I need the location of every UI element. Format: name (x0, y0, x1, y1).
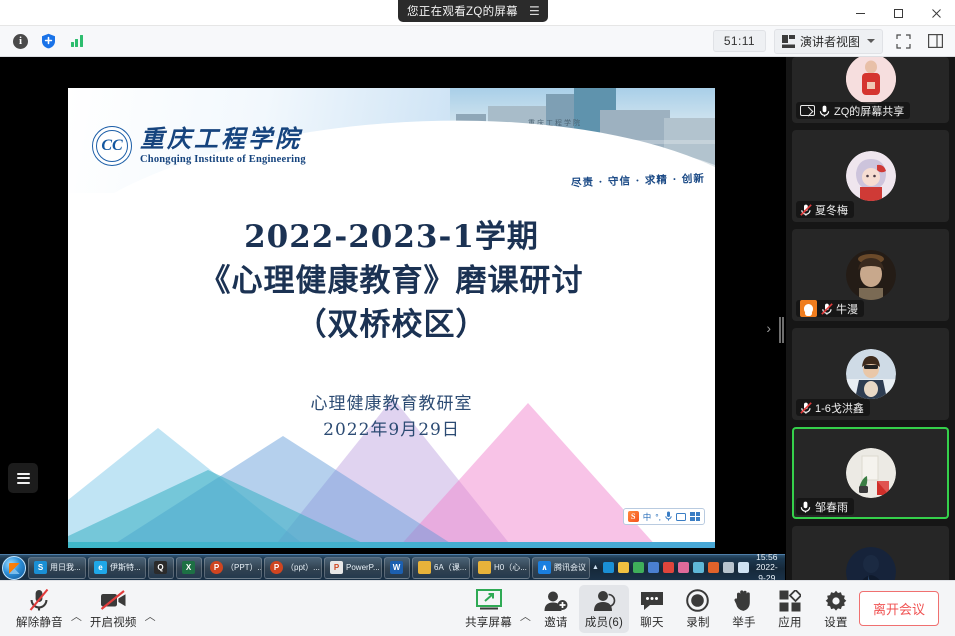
members-button[interactable]: 成员(6) (579, 585, 629, 633)
mic-on-icon (800, 501, 811, 513)
university-name-en: Chongqing Institute of Engineering (140, 154, 306, 165)
share-screen-label: 共享屏幕 (465, 614, 512, 630)
slide-title-line-1: 2022-2023-1学期 (68, 215, 715, 259)
taskbar-item[interactable]: P（ppt）... (264, 557, 322, 579)
mic-on-icon (819, 105, 830, 117)
invite-button[interactable]: 邀请 (533, 585, 579, 633)
slide-banner: 重庆工程学院 CC 重庆工程学院 Chongqing Institute of … (68, 88, 715, 193)
avatar (846, 349, 896, 399)
participant-name: 1-6戈洪鑫 (815, 400, 864, 416)
close-button[interactable] (917, 0, 955, 26)
shared-screen-stage: 重庆工程学院 CC 重庆工程学院 Chongqing Institute of … (0, 57, 785, 580)
participant-name: 牛漫 (836, 301, 858, 317)
slide-body: 2022-2023-1学期 《心理健康教育》磨课研讨 （双桥校区） 心理健康教育… (68, 193, 715, 548)
members-label: 成员(6) (585, 614, 623, 630)
participant-name: ZQ的屏幕共享 (834, 103, 904, 119)
mic-muted-icon (28, 588, 50, 612)
slide-subtitle: 心理健康教育教研室 2022年9月29日 (68, 391, 715, 444)
participant-tile[interactable]: 牛漫 (792, 229, 949, 321)
volume-icon[interactable] (738, 562, 749, 573)
window-buttons (841, 0, 955, 26)
speaker-view-icon (782, 35, 795, 48)
tray-icon[interactable] (648, 562, 659, 573)
taskbar-item[interactable]: PPowerP... (324, 557, 382, 579)
panel-drag-handle[interactable] (779, 315, 784, 345)
taskbar-item[interactable]: e伊斯特... (88, 557, 146, 579)
participant-name-tag: 夏冬梅 (796, 201, 854, 218)
unmute-label: 解除静音 (16, 614, 63, 630)
chat-icon (640, 588, 664, 612)
tray-icon[interactable] (723, 562, 734, 573)
university-seal-icon: CC (92, 126, 132, 166)
slide-subtitle-line-2: 2022年9月29日 (68, 417, 715, 443)
screen-share-icon (800, 105, 815, 116)
collapse-panel-chevron-icon[interactable]: › (766, 320, 771, 336)
system-tray: ▲ 15:56 2022-9-29 (592, 552, 785, 580)
record-icon (686, 588, 709, 612)
ime-toolbox-icon[interactable] (690, 512, 700, 521)
windows-taskbar: S用日我... e伊斯特... Q X P（PPT）... P（ppt）... … (0, 554, 785, 580)
taskbar-item[interactable]: X (176, 557, 202, 579)
tray-expand-icon[interactable]: ▲ (592, 564, 599, 571)
banner-menu-icon[interactable]: ☰ (527, 4, 542, 18)
slide-subtitle-line-1: 心理健康教育教研室 (68, 391, 715, 417)
voice-input-icon[interactable] (665, 510, 672, 524)
slide-title-line-2: 《心理健康教育》磨课研讨 (68, 259, 715, 303)
fullscreen-icon[interactable] (891, 30, 915, 52)
clock-time: 15:56 (756, 552, 778, 563)
participant-name: 夏冬梅 (815, 202, 848, 218)
share-options-chevron-icon[interactable]: ︿ (518, 608, 533, 624)
camera-off-icon (100, 588, 127, 612)
tray-icon[interactable] (603, 562, 614, 573)
network-signal-icon[interactable] (66, 31, 87, 52)
tray-icon[interactable] (618, 562, 629, 573)
participant-name: 邹春雨 (815, 499, 848, 515)
taskbar-clock[interactable]: 15:56 2022-9-29 (753, 552, 782, 580)
title-bar: 您正在观看ZQ的屏幕 ☰ (0, 0, 955, 26)
share-screen-button[interactable]: 共享屏幕 (459, 585, 518, 633)
raise-hand-button[interactable]: 举手 (721, 585, 767, 633)
start-video-button[interactable]: 开启视频 (84, 585, 143, 633)
presentation-slide: 重庆工程学院 CC 重庆工程学院 Chongqing Institute of … (68, 88, 715, 548)
mic-muted-icon (800, 402, 811, 414)
avatar (846, 547, 896, 580)
participant-name-tag: 邹春雨 (796, 498, 854, 515)
mic-muted-icon (821, 303, 832, 315)
sogou-logo-icon: S (628, 511, 639, 522)
mic-muted-icon (800, 204, 811, 216)
slide-title-line-3: （双桥校区） (68, 303, 715, 347)
ime-punctuation-icon[interactable]: °, (655, 512, 661, 522)
windows-start-button[interactable] (2, 556, 26, 580)
taskbar-item[interactable]: W (384, 557, 410, 579)
side-by-side-layout-icon[interactable] (923, 30, 947, 52)
apps-button[interactable]: 应用 (767, 585, 813, 633)
taskbar-item[interactable]: P（PPT）... (204, 557, 262, 579)
university-logo-row: CC 重庆工程学院 Chongqing Institute of Enginee… (92, 126, 306, 166)
start-video-label: 开启视频 (90, 614, 137, 630)
unmute-button[interactable]: 解除静音 (10, 585, 69, 633)
avatar (846, 448, 896, 498)
secondary-toolbar: i 51:11 (0, 26, 955, 57)
participant-tile-active[interactable]: 邹春雨 (792, 427, 949, 519)
maximize-button[interactable] (879, 0, 917, 26)
tray-icon[interactable] (708, 562, 719, 573)
tray-icon[interactable] (693, 562, 704, 573)
taskbar-item[interactable]: Q (148, 557, 174, 579)
raise-hand-label: 举手 (732, 614, 755, 630)
university-name-cn: 重庆工程学院 (140, 127, 306, 151)
audio-options-chevron-icon[interactable]: ︿ (69, 608, 84, 624)
hand-raised-badge-icon (800, 300, 817, 317)
gear-icon (825, 588, 847, 612)
participant-name-tag: 1-6戈洪鑫 (796, 399, 870, 416)
tray-icon[interactable] (678, 562, 689, 573)
clock-date: 2022-9-29 (756, 562, 778, 580)
taskbar-item-tencent-meeting[interactable]: ∧腾讯会议 (532, 557, 590, 579)
toolbar-right-controls: 51:11 演讲者视图 (713, 29, 955, 54)
tray-icon[interactable] (663, 562, 674, 573)
screen-share-banner: 您正在观看ZQ的屏幕 ☰ (398, 0, 548, 22)
meeting-control-bar: 解除静音 ︿ 开启视频 ︿ 共享屏幕 (0, 580, 955, 636)
invite-label: 邀请 (544, 614, 567, 630)
record-label: 录制 (686, 614, 709, 630)
settings-label: 设置 (824, 614, 847, 630)
tray-icon[interactable] (633, 562, 644, 573)
members-icon (592, 588, 616, 612)
taskbar-item[interactable]: S用日我... (28, 557, 86, 579)
participant-panel[interactable]: ZQ的屏幕共享 夏冬梅 (786, 57, 955, 580)
slide-list-icon[interactable] (8, 463, 38, 493)
leave-meeting-button[interactable]: 离开会议 (859, 591, 939, 626)
taskbar-item[interactable]: 6A（课... (412, 557, 470, 579)
participant-tile[interactable]: 1-6戈洪鑫 (792, 328, 949, 420)
participant-name-tag: ZQ的屏幕共享 (796, 102, 910, 119)
sogou-ime-bar[interactable]: S 中 °, (623, 508, 705, 525)
participant-name-tag: 牛漫 (796, 300, 864, 317)
meeting-window: 您正在观看ZQ的屏幕 ☰ i (0, 0, 955, 636)
meeting-timer: 51:11 (713, 30, 766, 52)
invite-icon (544, 588, 568, 612)
minimize-button[interactable] (841, 0, 879, 26)
avatar (846, 151, 896, 201)
info-icon[interactable]: i (10, 31, 31, 52)
screen-share-banner-text: 您正在观看ZQ的屏幕 (407, 3, 518, 19)
participant-tile[interactable] (792, 526, 949, 580)
view-mode-selector[interactable]: 演讲者视图 (774, 29, 883, 54)
taskbar-item[interactable]: H0（心... (472, 557, 530, 579)
avatar (846, 57, 896, 104)
apps-label: 应用 (778, 614, 801, 630)
record-button[interactable]: 录制 (675, 585, 721, 633)
avatar (846, 250, 896, 300)
slide-title: 2022-2023-1学期 《心理健康教育》磨课研讨 （双桥校区） (68, 215, 715, 347)
toolbar-left-icons: i (0, 31, 87, 52)
share-screen-icon (476, 588, 502, 612)
security-shield-icon[interactable] (38, 31, 59, 52)
chevron-down-icon (867, 39, 875, 43)
raised-hand-icon (733, 588, 755, 612)
view-mode-label: 演讲者视图 (800, 33, 860, 50)
soft-keyboard-icon[interactable] (676, 513, 686, 521)
participant-tile[interactable]: 夏冬梅 (792, 130, 949, 222)
participant-tile[interactable]: ZQ的屏幕共享 (792, 57, 949, 123)
settings-button[interactable]: 设置 (813, 585, 859, 633)
video-options-chevron-icon[interactable]: ︿ (143, 608, 158, 624)
chat-label: 聊天 (640, 614, 663, 630)
chat-button[interactable]: 聊天 (629, 585, 675, 633)
apps-grid-icon (779, 588, 801, 612)
ime-mode-label[interactable]: 中 (643, 511, 652, 523)
